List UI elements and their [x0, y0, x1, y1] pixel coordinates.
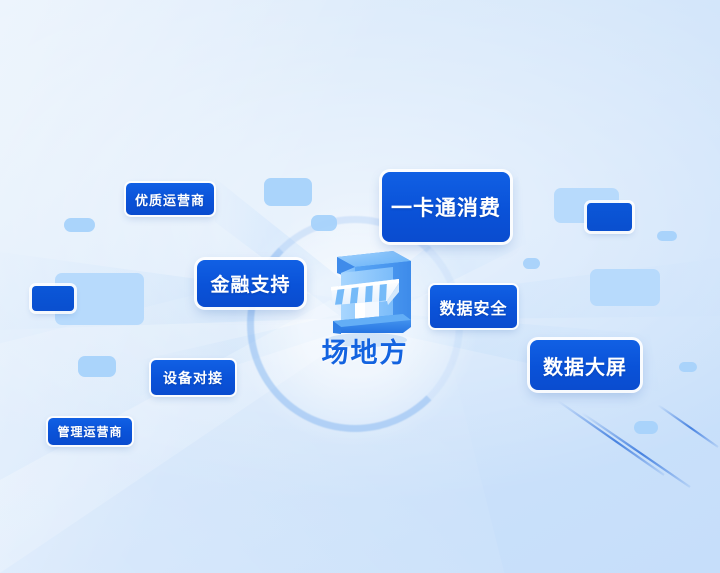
- label-text: 数据安全: [439, 295, 507, 319]
- center-title: 场地方: [300, 331, 430, 370]
- decoration-rect-deco-12: [634, 421, 658, 434]
- speed-lines: [540, 383, 720, 503]
- decoration-rect-deco-1: [264, 178, 312, 206]
- label-shebei-duijie[interactable]: 设备对接: [151, 360, 235, 395]
- label-guanli-yunyingshang[interactable]: 管理运营商: [48, 418, 132, 445]
- decoration-rect-deco-2: [311, 215, 337, 231]
- label-youzhi-yunyingshang[interactable]: 优质运营商: [126, 183, 214, 215]
- decoration-rect-deco-6: [78, 356, 116, 377]
- decoration-rect-deco-3: [64, 218, 95, 232]
- label-jinrong-zhichi[interactable]: 金融支持: [197, 260, 304, 307]
- label-text: 设备对接: [163, 368, 223, 388]
- label-yikatong-xiaofei[interactable]: 一卡通消费: [382, 172, 510, 242]
- label-text: 管理运营商: [57, 423, 122, 440]
- illustration-canvas: 场地方 优质运营商金融支持设备对接管理运营商一卡通消费数据安全数据大屏: [0, 0, 720, 573]
- decoration-rect-deco-9: [657, 231, 677, 241]
- decoration-rect-deco-11: [590, 269, 660, 306]
- label-text: 数据大屏: [543, 351, 627, 380]
- label-text: 优质运营商: [135, 190, 205, 209]
- label-text: 金融支持: [210, 270, 290, 297]
- decoration-rect-deco-5: [32, 286, 74, 311]
- label-text: 一卡通消费: [391, 192, 501, 222]
- decoration-rect-deco-13: [679, 362, 697, 372]
- label-shuju-anquan[interactable]: 数据安全: [430, 285, 517, 328]
- decoration-rect-deco-8: [587, 203, 632, 231]
- decoration-rect-deco-10: [523, 258, 540, 269]
- label-shuju-daping[interactable]: 数据大屏: [530, 340, 640, 390]
